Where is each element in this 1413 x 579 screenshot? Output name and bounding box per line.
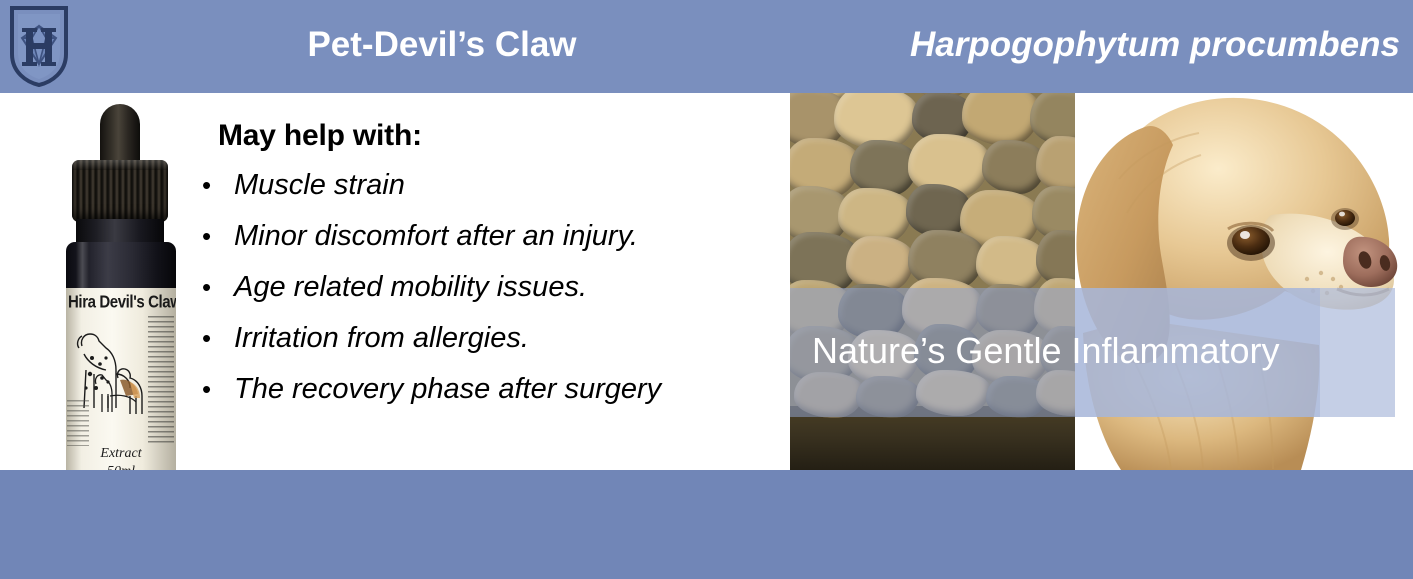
bullet-marker: •	[202, 262, 211, 313]
page-title-left: Pet-Devil’s Claw	[152, 24, 732, 66]
bottle-cap	[72, 160, 168, 222]
list-item: • Age related mobility issues.	[196, 262, 796, 313]
bottle-label-title: Hira Devil's Claw	[68, 293, 174, 313]
list-item-label: The recovery phase after surgery	[234, 373, 661, 405]
list-item: • Minor discomfort after an injury.	[196, 211, 796, 262]
bullet-marker: •	[202, 364, 211, 415]
list-item: • The recovery phase after surgery	[196, 364, 796, 415]
bottle-label-directions-text	[148, 316, 174, 444]
hira-shield-logo-icon	[8, 4, 70, 88]
tagline-caption: Nature’s Gentle Inflammatory	[812, 328, 1412, 374]
list-item-label: Muscle strain	[234, 169, 405, 201]
bullet-marker: •	[202, 160, 211, 211]
slide-canvas: Nature’s Gentle Inflammatory Pet-Devil’s…	[0, 0, 1413, 579]
page-title-right: Harpogophytum procumbens	[770, 24, 1400, 66]
benefits-list: • Muscle strain • Minor discomfort after…	[196, 160, 796, 415]
bullet-marker: •	[202, 313, 211, 364]
list-item: • Irritation from allergies.	[196, 313, 796, 364]
list-item-label: Irritation from allergies.	[234, 322, 529, 354]
benefits-block: May help with: • Muscle strain • Minor d…	[196, 118, 796, 415]
bottle-label-extract: Extract	[66, 446, 176, 462]
list-item: • Muscle strain	[196, 160, 796, 211]
bottle-label: Hira Devil's Claw	[66, 288, 176, 492]
dropper-bulb	[100, 104, 140, 166]
bullet-marker: •	[202, 211, 211, 262]
bottle-label-contact-text	[67, 400, 89, 446]
benefits-heading: May help with:	[218, 118, 796, 154]
list-item-label: Minor discomfort after an injury.	[234, 220, 638, 252]
footer-band	[0, 470, 1413, 579]
list-item-label: Age related mobility issues.	[234, 271, 587, 303]
